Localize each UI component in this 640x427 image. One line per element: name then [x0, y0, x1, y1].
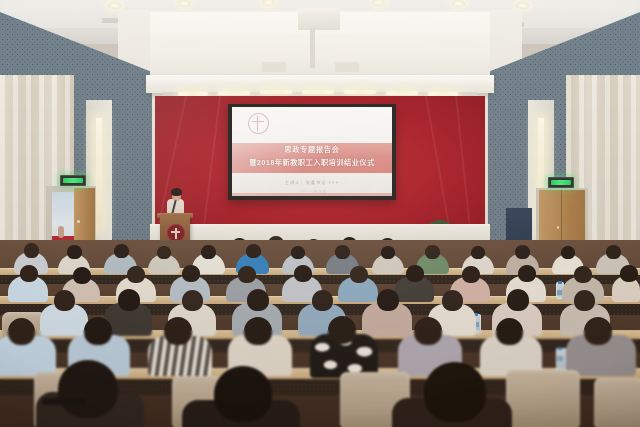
soffit-light-strip: [302, 90, 334, 94]
soffit-light-strip: [386, 91, 418, 95]
eyeglasses: [42, 398, 86, 405]
projector-mount-stem: [310, 28, 315, 68]
corridor-figure: [58, 226, 64, 238]
vertical-light-strip-left: [96, 118, 102, 230]
door-handle-right[interactable]: [557, 226, 560, 229]
ceiling-spotlight: [178, 0, 191, 7]
soffit-vent-right: [335, 62, 359, 72]
lecture-hall-photo: 思政专题报告会 暨2018年新教职工入职培训结业仪式 主讲人：党委书记 ××× …: [0, 0, 640, 427]
projection-screen: 思政专题报告会 暨2018年新教职工入职培训结业仪式 主讲人：党委书记 ××× …: [232, 107, 392, 196]
emergency-exit-sign-right: [548, 177, 574, 188]
soffit-light-strip: [344, 90, 376, 94]
university-crest-icon: [248, 113, 269, 134]
slide-bottom-accent: [232, 193, 392, 196]
projector-housing: [298, 8, 340, 30]
ceiling-spotlight: [452, 0, 465, 7]
emergency-exit-sign-left: [60, 175, 86, 186]
ceiling-vent: [102, 18, 118, 23]
chair: [594, 378, 640, 427]
door-handle-left[interactable]: [77, 220, 80, 223]
slide-title-line-2: 暨2018年新教职工入职培训结业仪式: [232, 158, 392, 168]
ceiling-spotlight: [516, 2, 529, 9]
soffit-vent-left: [262, 62, 286, 72]
slide-title-line-1: 思政专题报告会: [232, 145, 392, 155]
soffit-light-strip: [260, 90, 292, 94]
ceiling-spotlight: [108, 2, 121, 9]
chair: [506, 370, 580, 427]
soffit-light-strip: [218, 91, 250, 95]
slide-subtitle-line-1: 主讲人：党委书记 ×××: [232, 180, 392, 186]
presenter-hair: [171, 188, 182, 196]
